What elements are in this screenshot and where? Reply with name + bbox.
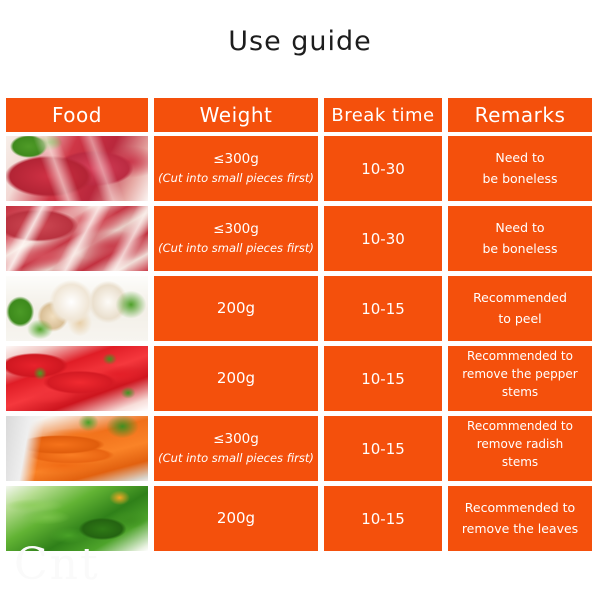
remarks-cell: Recommended to remove the leaves (448, 486, 592, 551)
beef-image (6, 136, 148, 201)
table-row: 200g 10-15 Recommended to peel (6, 276, 596, 341)
remarks-cell: Recommended to remove the pepper stems (448, 346, 592, 411)
column-header-remarks: Remarks (448, 98, 592, 132)
food-photo-beef (6, 136, 148, 201)
break-time-cell: 10-30 (324, 136, 442, 201)
remarks-line: be boneless (483, 239, 558, 259)
food-photo-garlic (6, 276, 148, 341)
remarks-line: stems (502, 383, 538, 401)
weight-main: 200g (217, 297, 255, 320)
weight-cell: 200g (154, 276, 318, 341)
watermark: Cnt (14, 539, 100, 590)
remarks-line: remove the leaves (462, 519, 578, 539)
remarks-line: Recommended (473, 288, 567, 308)
weight-cell: ≤300g (Cut into small pieces first) (154, 136, 318, 201)
column-header-food: Food (6, 98, 148, 132)
weight-note: (Cut into small pieces first) (158, 450, 314, 468)
remarks-line: remove radish (477, 435, 563, 453)
break-time-cell: 10-15 (324, 486, 442, 551)
weight-main: 200g (217, 367, 255, 390)
break-time-cell: 10-30 (324, 206, 442, 271)
remarks-line: to peel (498, 309, 541, 329)
weight-cell: ≤300g (Cut into small pieces first) (154, 206, 318, 271)
weight-main: 200g (217, 507, 255, 530)
red-pepper-image (6, 346, 148, 411)
page-title: Use guide (0, 26, 600, 57)
table-row: 200g 10-15 Recommended to remove the pep… (6, 346, 596, 411)
table-header-row: Food Weight Break time Remarks (6, 98, 596, 132)
garlic-image (6, 276, 148, 341)
weight-note: (Cut into small pieces first) (158, 240, 314, 258)
food-photo-carrot (6, 416, 148, 481)
table-row: ≤300g (Cut into small pieces first) 10-3… (6, 206, 596, 271)
remarks-cell: Recommended to peel (448, 276, 592, 341)
column-header-weight: Weight (154, 98, 318, 132)
column-header-break-time: Break time (324, 98, 442, 132)
pork-image (6, 206, 148, 271)
remarks-line: stems (502, 453, 538, 471)
carrot-image (6, 416, 148, 481)
use-guide-table: Food Weight Break time Remarks ≤300g (Cu… (6, 98, 596, 556)
remarks-line: Recommended to (467, 347, 573, 365)
remarks-cell: Recommended to remove radish stems (448, 416, 592, 481)
food-photo-pork (6, 206, 148, 271)
remarks-line: Need to (495, 218, 544, 238)
remarks-cell: Need to be boneless (448, 206, 592, 271)
weight-cell: 200g (154, 486, 318, 551)
remarks-cell: Need to be boneless (448, 136, 592, 201)
remarks-line: Need to (495, 148, 544, 168)
break-time-cell: 10-15 (324, 416, 442, 481)
remarks-line: be boneless (483, 169, 558, 189)
table-row: ≤300g (Cut into small pieces first) 10-1… (6, 416, 596, 481)
remarks-line: Recommended to (465, 498, 575, 518)
break-time-cell: 10-15 (324, 346, 442, 411)
weight-note: (Cut into small pieces first) (158, 170, 314, 188)
food-photo-red-pepper (6, 346, 148, 411)
break-time-cell: 10-15 (324, 276, 442, 341)
remarks-line: Recommended to (467, 417, 573, 435)
weight-main: ≤300g (213, 149, 259, 170)
weight-main: ≤300g (213, 429, 259, 450)
weight-cell: ≤300g (Cut into small pieces first) (154, 416, 318, 481)
remarks-line: remove the pepper (462, 365, 577, 383)
table-row: ≤300g (Cut into small pieces first) 10-3… (6, 136, 596, 201)
weight-main: ≤300g (213, 219, 259, 240)
weight-cell: 200g (154, 346, 318, 411)
